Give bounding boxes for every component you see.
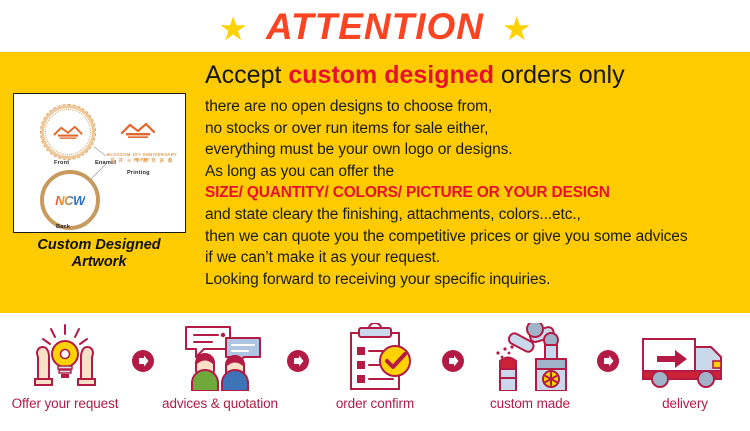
process-step-advices-quotation: advices & quotation <box>161 313 279 411</box>
star-icon-left: ★ <box>218 12 248 45</box>
hands-lightbulb-icon <box>13 313 117 391</box>
attention-banner: ★ ATTENTION ★ Front Enamel <box>0 0 750 431</box>
back-logo-text: NCW <box>55 193 85 208</box>
notice-line-1: no stocks or over run items for sale eit… <box>205 118 745 140</box>
artwork-caption-line2: Artwork <box>8 254 190 271</box>
artwork-caption-line1: Custom Designed <box>8 237 190 254</box>
company-logo-icon <box>51 123 85 141</box>
label-printing: Printing <box>127 170 150 176</box>
notice-line-5: and state cleary the finishing, attachme… <box>205 204 745 226</box>
artwork-preview: Front Enamel NCW Back BLOSSOM 10ᵗʰ ANNIV… <box>13 93 186 233</box>
arrow-right-circle-icon-4 <box>591 313 625 409</box>
print-sample-line2: 花 开 十 年 周 年 庆 典 <box>102 158 182 164</box>
arrow-right-circle-icon-3 <box>436 313 470 409</box>
process-step-label: advices & quotation <box>162 396 278 411</box>
notice-line-3: As long as you can offer the <box>205 161 745 183</box>
notice-line-2: everything must be your own logo or desi… <box>205 139 745 161</box>
heading-suffix: orders only <box>494 61 625 89</box>
printing-logo-icon <box>118 120 158 140</box>
clipboard-checkmark-icon <box>323 313 427 391</box>
people-speech-bubbles-icon <box>168 313 272 391</box>
process-step-delivery: delivery <box>626 313 744 411</box>
heading-highlight: custom designed <box>288 61 494 89</box>
process-step-label: delivery <box>662 396 708 411</box>
label-back: Back <box>56 224 70 230</box>
artwork-caption: Custom Designed Artwork <box>8 237 190 271</box>
heading-prefix: Accept <box>205 61 288 89</box>
notice-line-4: SIZE/ QUANTITY/ COLORS/ PICTURE OR YOUR … <box>205 182 745 204</box>
robot-arm-icon <box>478 313 582 391</box>
notice-copy: Accept custom designed orders only there… <box>205 60 745 290</box>
process-step-offer-request: Offer your request <box>6 313 124 411</box>
arrow-right-circle-icon-2 <box>281 313 315 409</box>
notice-line-6: then we can quote you the competitive pr… <box>205 226 745 248</box>
process-step-order-confirm: order confirm <box>316 313 434 411</box>
process-step-custom-made: custom made <box>471 313 589 411</box>
delivery-truck-icon <box>633 313 737 391</box>
notice-heading: Accept custom designed orders only <box>205 60 745 90</box>
notice-line-7: if we can’t make it as your request. <box>205 247 745 269</box>
arrow-right-circle-icon-1 <box>126 313 160 409</box>
process-step-label: custom made <box>490 396 570 411</box>
process-step-label: order confirm <box>336 396 414 411</box>
process-strip: Offer your request <box>0 313 750 431</box>
header: ★ ATTENTION ★ <box>0 0 750 52</box>
star-icon-right: ★ <box>502 12 532 45</box>
back-badge-icon: NCW <box>40 170 100 230</box>
front-badge-icon <box>40 104 96 160</box>
page-title: ATTENTION <box>266 8 484 45</box>
process-step-label: Offer your request <box>12 396 119 411</box>
label-front: Front <box>54 160 69 166</box>
notice-line-8: Looking forward to receiving your specif… <box>205 269 745 291</box>
notice-line-0: there are no open designs to choose from… <box>205 96 745 118</box>
notice-panel: Front Enamel NCW Back BLOSSOM 10ᵗʰ ANNIV… <box>0 52 750 313</box>
